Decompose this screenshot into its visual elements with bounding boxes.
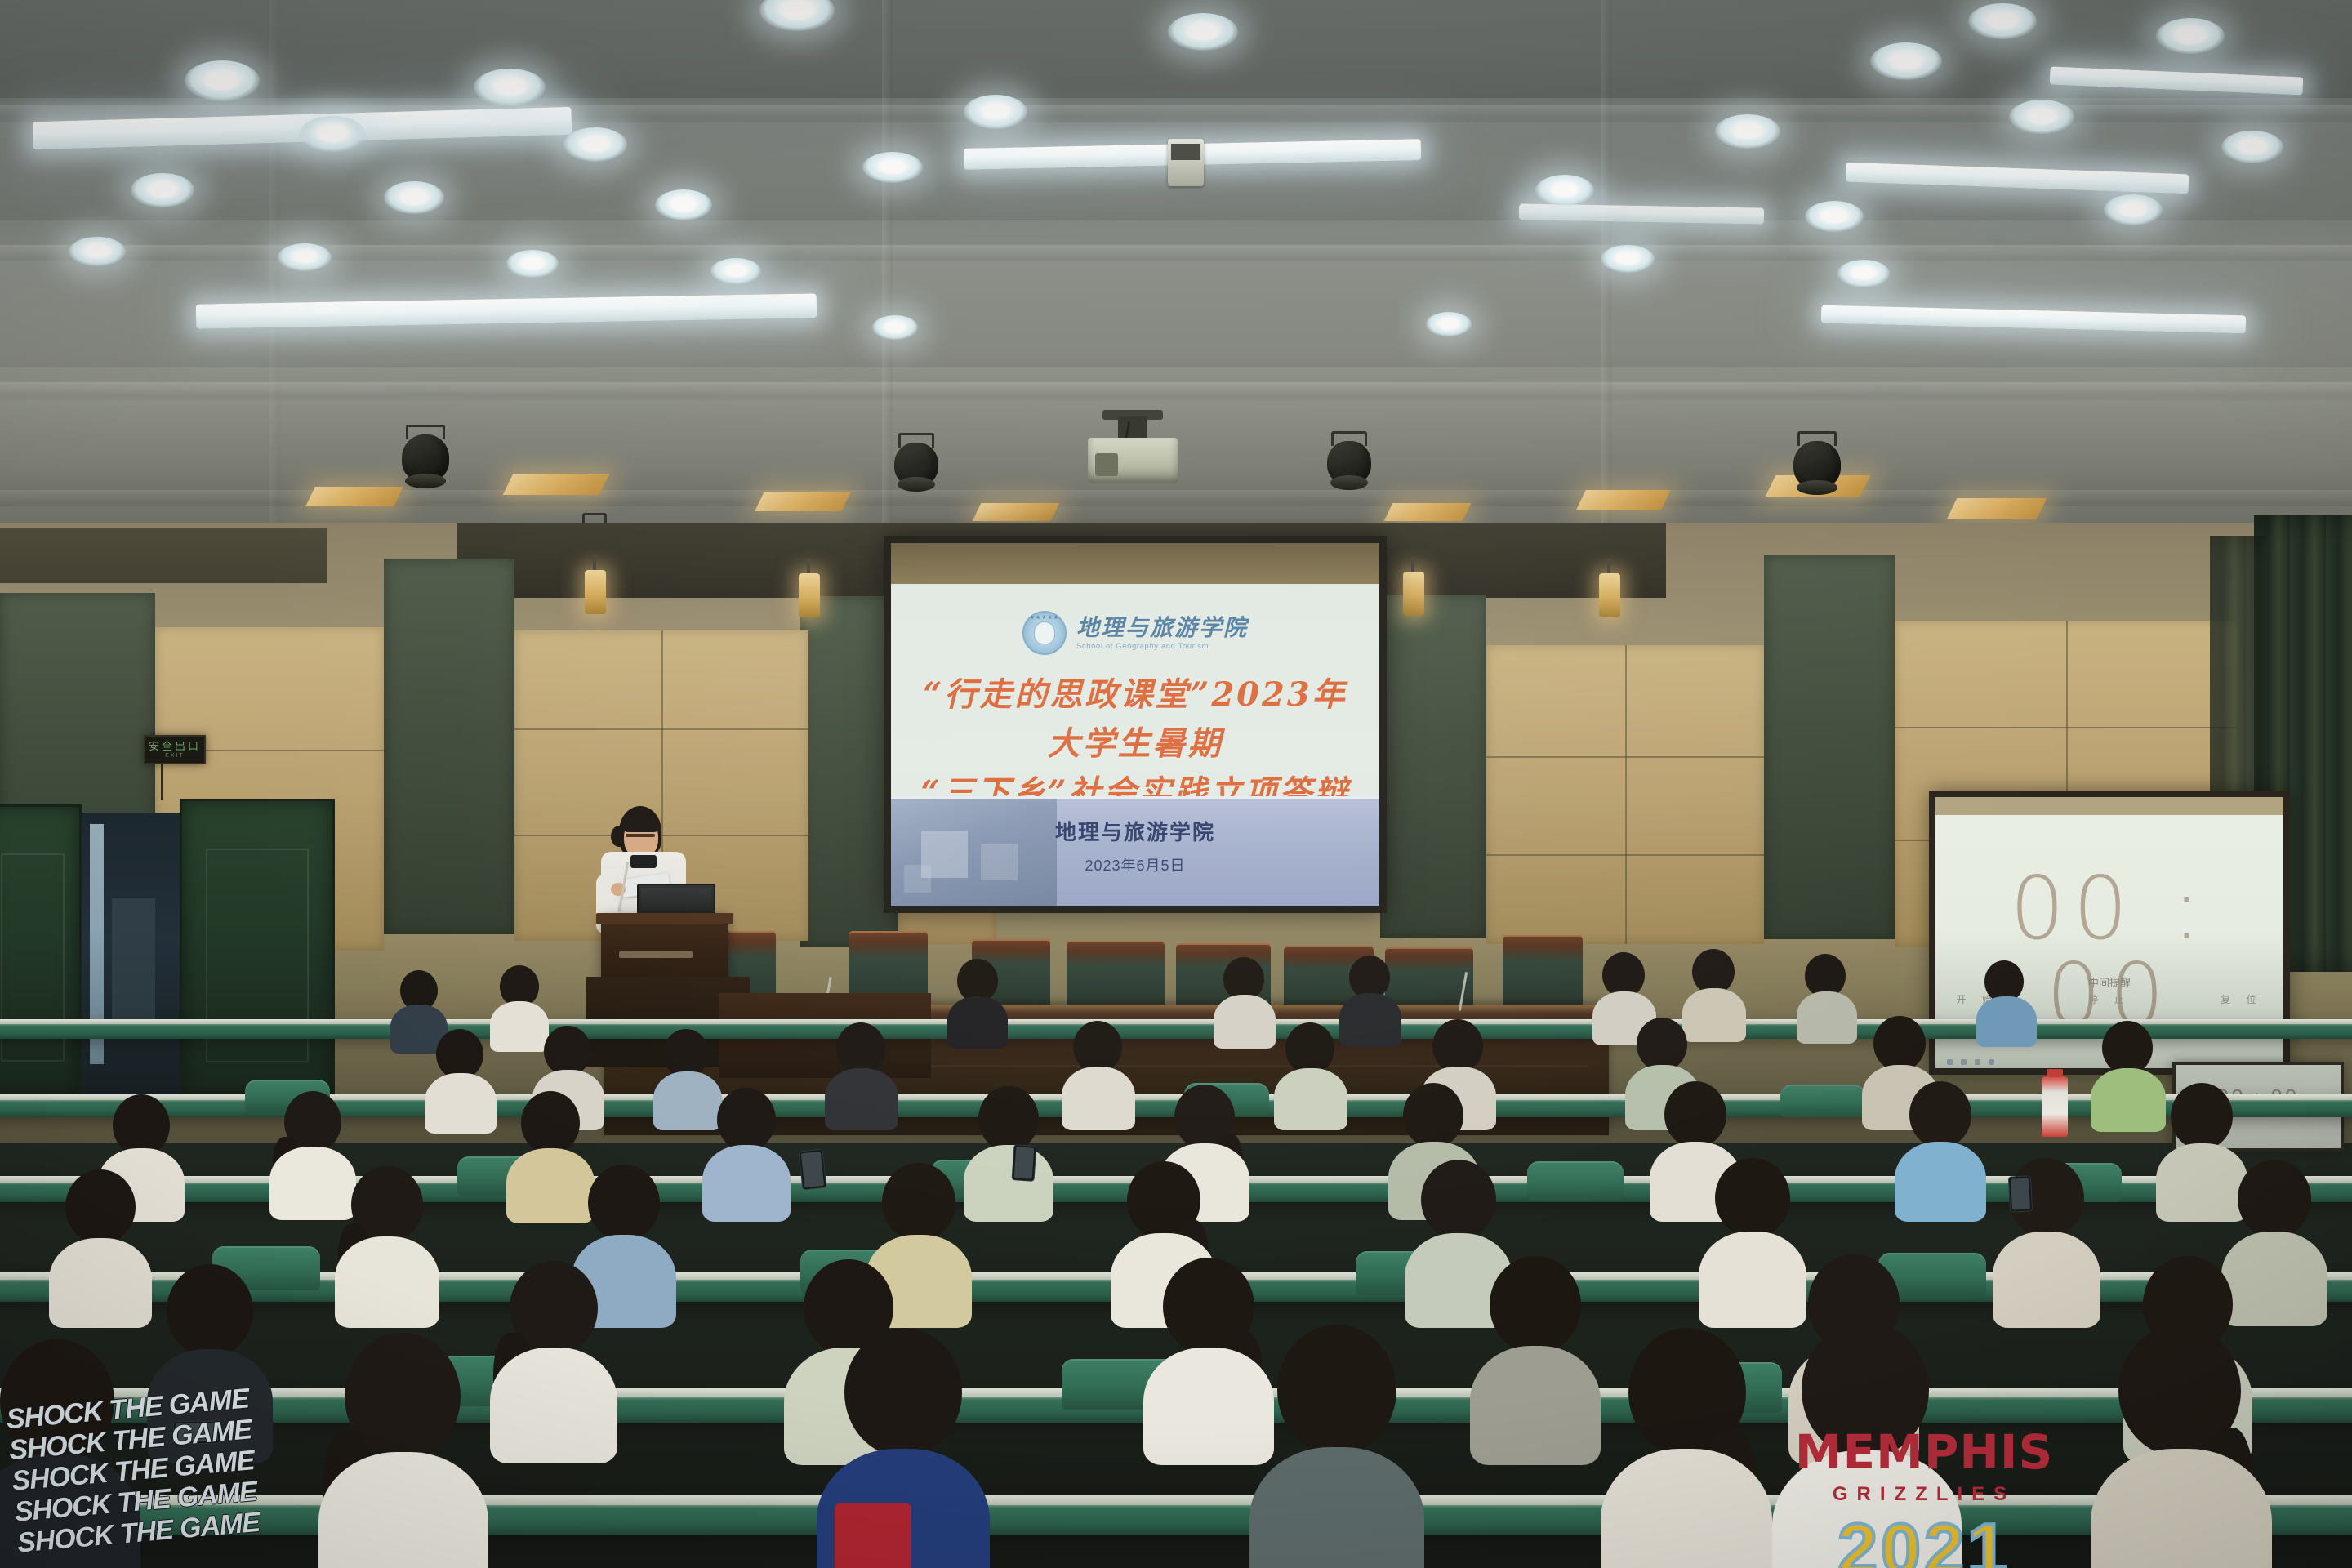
exit-sign-label-cn: 安全出口 <box>149 741 201 751</box>
exit-sign[interactable]: 安全出口 EXIT <box>144 735 206 764</box>
audience-phone[interactable] <box>1011 1144 1036 1182</box>
slide-organizer: 地理与旅游学院 <box>891 816 1379 846</box>
ceiling-downlight <box>2156 18 2225 54</box>
wall-panel-green <box>1380 595 1486 938</box>
ceiling-downlight <box>2009 100 2074 134</box>
jersey-team-name: GRIZZLIES <box>1793 1483 2055 1506</box>
slide-date: 2023年6月5日 <box>891 854 1379 875</box>
ceiling-downlight <box>2104 194 2163 225</box>
presenter-fringe <box>622 813 660 832</box>
water-bottle <box>2042 1076 2068 1137</box>
ceiling-downlight <box>1426 312 1472 336</box>
audience-member <box>318 1333 487 1568</box>
audience-member <box>1274 1022 1346 1119</box>
audience-member <box>1249 1325 1423 1568</box>
audience-member <box>825 1022 897 1119</box>
wall-sconce <box>585 570 606 614</box>
audience-member <box>1797 954 1855 1032</box>
audience-member <box>2091 1021 2164 1120</box>
wall-sconce <box>1403 572 1424 616</box>
audience-member <box>49 1169 150 1313</box>
university-seal-icon: ★★★★★ <box>1022 611 1067 655</box>
audience-phone[interactable] <box>2008 1175 2033 1212</box>
slide-subtitle: 地理与旅游学院 2023年6月5日 <box>891 816 1379 875</box>
warm-wash-light <box>1947 498 2047 519</box>
audience-member <box>335 1166 438 1313</box>
audience-member <box>2091 1325 2270 1568</box>
exit-sign-label-en: EXIT <box>165 753 185 759</box>
exit-sign-stem <box>161 764 163 800</box>
slide-title-line1: “行走的思政课堂”2023年大学生暑期 <box>911 670 1360 768</box>
institution-name-en: School of Geography and Tourism <box>1076 643 1248 651</box>
par-stage-light <box>397 425 454 483</box>
par-stage-light <box>1788 431 1846 490</box>
audience-member <box>1339 955 1400 1036</box>
audience-member <box>1601 1328 1771 1568</box>
jersey-team-city: MEMPHIS <box>1793 1424 2055 1480</box>
jersey-number: 2021 <box>1793 1508 2055 1568</box>
seal-stars: ★★★★★ <box>1024 614 1065 621</box>
coffered-ceiling <box>0 0 2352 572</box>
ceiling-downlight <box>1715 114 1780 149</box>
podium-laptop[interactable] <box>637 884 715 915</box>
ceiling-downlight <box>655 189 712 220</box>
audience-member <box>702 1088 789 1209</box>
ceiling-downlight <box>1968 3 2037 39</box>
slide-footer-band: 地理与旅游学院 2023年6月5日 <box>891 796 1379 906</box>
wall-panel-tan <box>1486 645 1764 944</box>
ceiling-downlight <box>474 69 546 106</box>
smoke-detector <box>1168 139 1204 186</box>
ceiling-downlight <box>384 181 444 214</box>
ceiling-downlight <box>563 127 627 162</box>
audience-member <box>964 1086 1052 1209</box>
wall-sconce <box>1599 573 1620 617</box>
wall-panel-green <box>384 559 514 934</box>
lecture-chair[interactable] <box>1780 1085 1865 1117</box>
audience-phone[interactable] <box>799 1149 827 1191</box>
ceiling-downlight <box>1805 201 1864 232</box>
wall-panel-green <box>1764 555 1895 939</box>
audience-member <box>425 1029 495 1120</box>
warm-wash-light <box>503 474 610 495</box>
ceiling-projector <box>1088 438 1178 483</box>
presenter-bow-tie <box>630 855 657 868</box>
ceiling-downlight <box>872 315 918 340</box>
audience-member <box>1470 1256 1599 1445</box>
memphis-grizzlies-jersey-graphic: MEMPHIS GRIZZLIES 2021 <box>1793 1424 2055 1568</box>
ceiling-downlight <box>1535 175 1594 206</box>
warm-wash-light <box>305 487 403 506</box>
screen-hook-icon <box>2103 791 2116 797</box>
institution-name-cn: 地理与旅游学院 <box>1076 616 1248 639</box>
audience-member <box>1976 960 2035 1037</box>
ceiling-downlight <box>506 250 559 278</box>
par-stage-light <box>1323 431 1375 485</box>
audience-member <box>490 1261 616 1445</box>
audience-member <box>817 1328 988 1568</box>
hoodie-red-panel <box>835 1503 911 1568</box>
warm-wash-light <box>973 503 1060 521</box>
ceiling-downlight <box>1601 245 1655 273</box>
par-stage-light <box>890 433 942 487</box>
ceiling-downlight <box>1870 42 1942 80</box>
audience-member <box>1895 1081 1984 1209</box>
wall-header-band <box>0 528 327 583</box>
audience-member <box>1062 1021 1134 1119</box>
wall-sconce <box>799 573 820 617</box>
ceiling-downlight <box>862 152 923 183</box>
warm-wash-light <box>755 492 851 511</box>
ceiling-downlight <box>710 258 761 284</box>
ceiling-downlight <box>2221 131 2283 163</box>
ceiling-downlight <box>131 173 194 207</box>
ceiling-downlight <box>69 237 126 266</box>
ceiling-downlight <box>278 243 332 271</box>
warm-wash-light <box>1384 503 1472 521</box>
projection-screen[interactable]: ★★★★★ 地理与旅游学院 School of Geography and To… <box>884 536 1387 913</box>
presenter-glasses <box>626 834 655 837</box>
slide-logo: ★★★★★ 地理与旅游学院 School of Geography and To… <box>891 611 1379 655</box>
lecture-hall-photo: 安全出口 EXIT ★★★★★ 地理与旅游学院 School of Geogra… <box>0 0 2352 1568</box>
ceiling-downlight <box>185 60 260 101</box>
ceiling-downlight <box>1837 260 1890 287</box>
screen-top-shade <box>891 543 1379 584</box>
ceiling-troffer-light <box>1519 203 1764 224</box>
audience-member <box>1214 957 1274 1037</box>
shock-the-game-tee-graphic: SHOCK THE GAME SHOCK THE GAME SHOCK THE … <box>5 1383 261 1559</box>
audience-member <box>947 959 1006 1037</box>
lecture-chair[interactable] <box>1527 1161 1624 1200</box>
timer-screen-top-shade <box>1935 797 2283 815</box>
presentation-slide: ★★★★★ 地理与旅游学院 School of Geography and To… <box>891 584 1379 906</box>
ceiling-downlight <box>964 95 1027 129</box>
warm-wash-light <box>1576 490 1671 510</box>
ceiling-downlight <box>299 116 366 152</box>
ceiling-downlight <box>1168 13 1238 51</box>
